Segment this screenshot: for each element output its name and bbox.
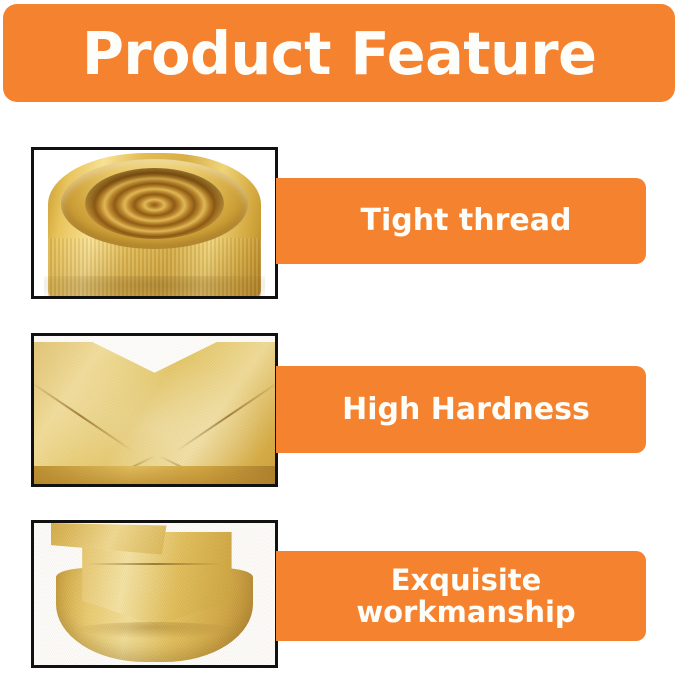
feature-image-3-frame: [31, 520, 278, 668]
internal-thread-bore: [85, 168, 225, 240]
feature-label-panel-1: Tight thread: [276, 178, 646, 264]
brass-surface-grain: [34, 523, 275, 665]
brass-fitting-internal-thread-closeup: [34, 150, 275, 296]
header-banner: Product Feature: [3, 4, 675, 102]
brass-surface-grain: [34, 336, 275, 484]
feature-label-panel-3: Exquisite workmanship: [276, 551, 646, 641]
fitting-shadow: [44, 276, 266, 299]
product-feature-infographic: Product Feature Tight thread: [0, 0, 679, 676]
page-title: Product Feature: [82, 24, 596, 83]
feature-label-panel-2: High Hardness: [276, 366, 646, 453]
feature-label-3: Exquisite workmanship: [356, 564, 591, 629]
feature-image-2-frame: [31, 333, 278, 487]
feature-label-2: High Hardness: [342, 393, 606, 427]
feature-image-1-frame: [31, 147, 278, 299]
brass-hex-body-closeup: [34, 523, 275, 665]
brass-cross-fitting-surface-closeup: [34, 336, 275, 484]
feature-label-1: Tight thread: [361, 204, 588, 238]
